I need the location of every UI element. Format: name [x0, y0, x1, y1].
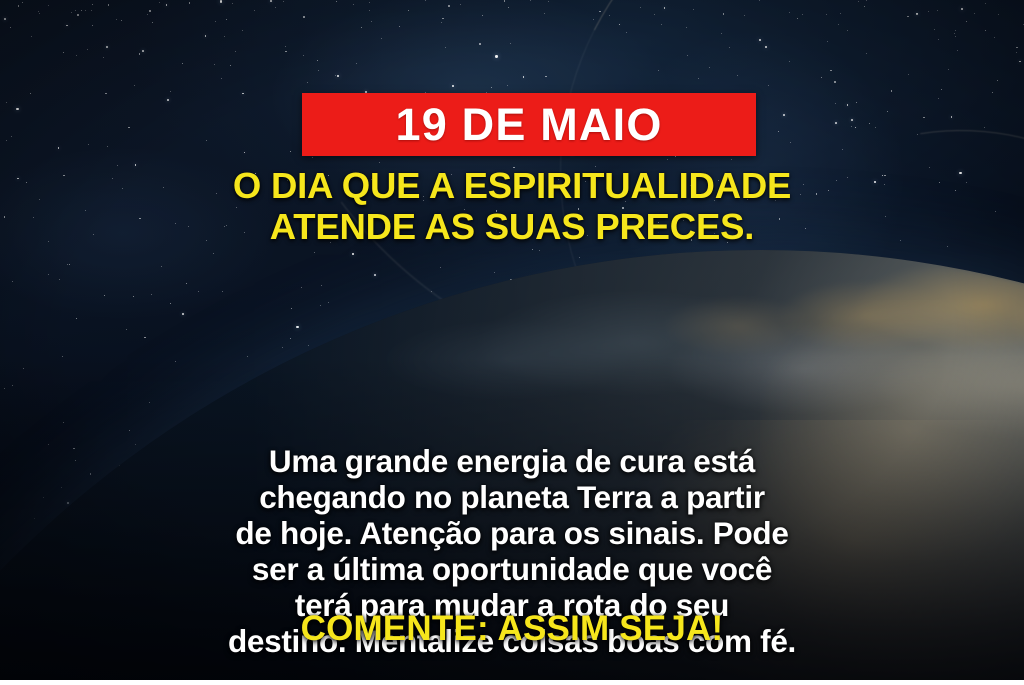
call-to-action-text: COMENTE: ASSIM SEJA!: [0, 610, 1024, 649]
headline: O DIA QUE A ESPIRITUALIDADE ATENDE AS SU…: [0, 166, 1024, 248]
poster-canvas: 19 DE MAIO O DIA QUE A ESPIRITUALIDADE A…: [0, 0, 1024, 685]
bottom-white-border: [0, 680, 1024, 685]
body-line-1: Uma grande energia de cura está: [67, 443, 957, 479]
body-line-2: chegando no planeta Terra a partir: [67, 479, 957, 515]
headline-line-2: ATENDE AS SUAS PRECES.: [0, 207, 1024, 248]
body-line-3: de hoje. Atenção para os sinais. Pode: [67, 515, 957, 551]
poster-content: 19 DE MAIO O DIA QUE A ESPIRITUALIDADE A…: [0, 0, 1024, 685]
body-line-4: ser a última oportunidade que você: [67, 551, 957, 587]
date-banner-text: 19 DE MAIO: [395, 102, 662, 147]
date-banner: 19 DE MAIO: [302, 93, 756, 156]
headline-line-1: O DIA QUE A ESPIRITUALIDADE: [0, 166, 1024, 207]
